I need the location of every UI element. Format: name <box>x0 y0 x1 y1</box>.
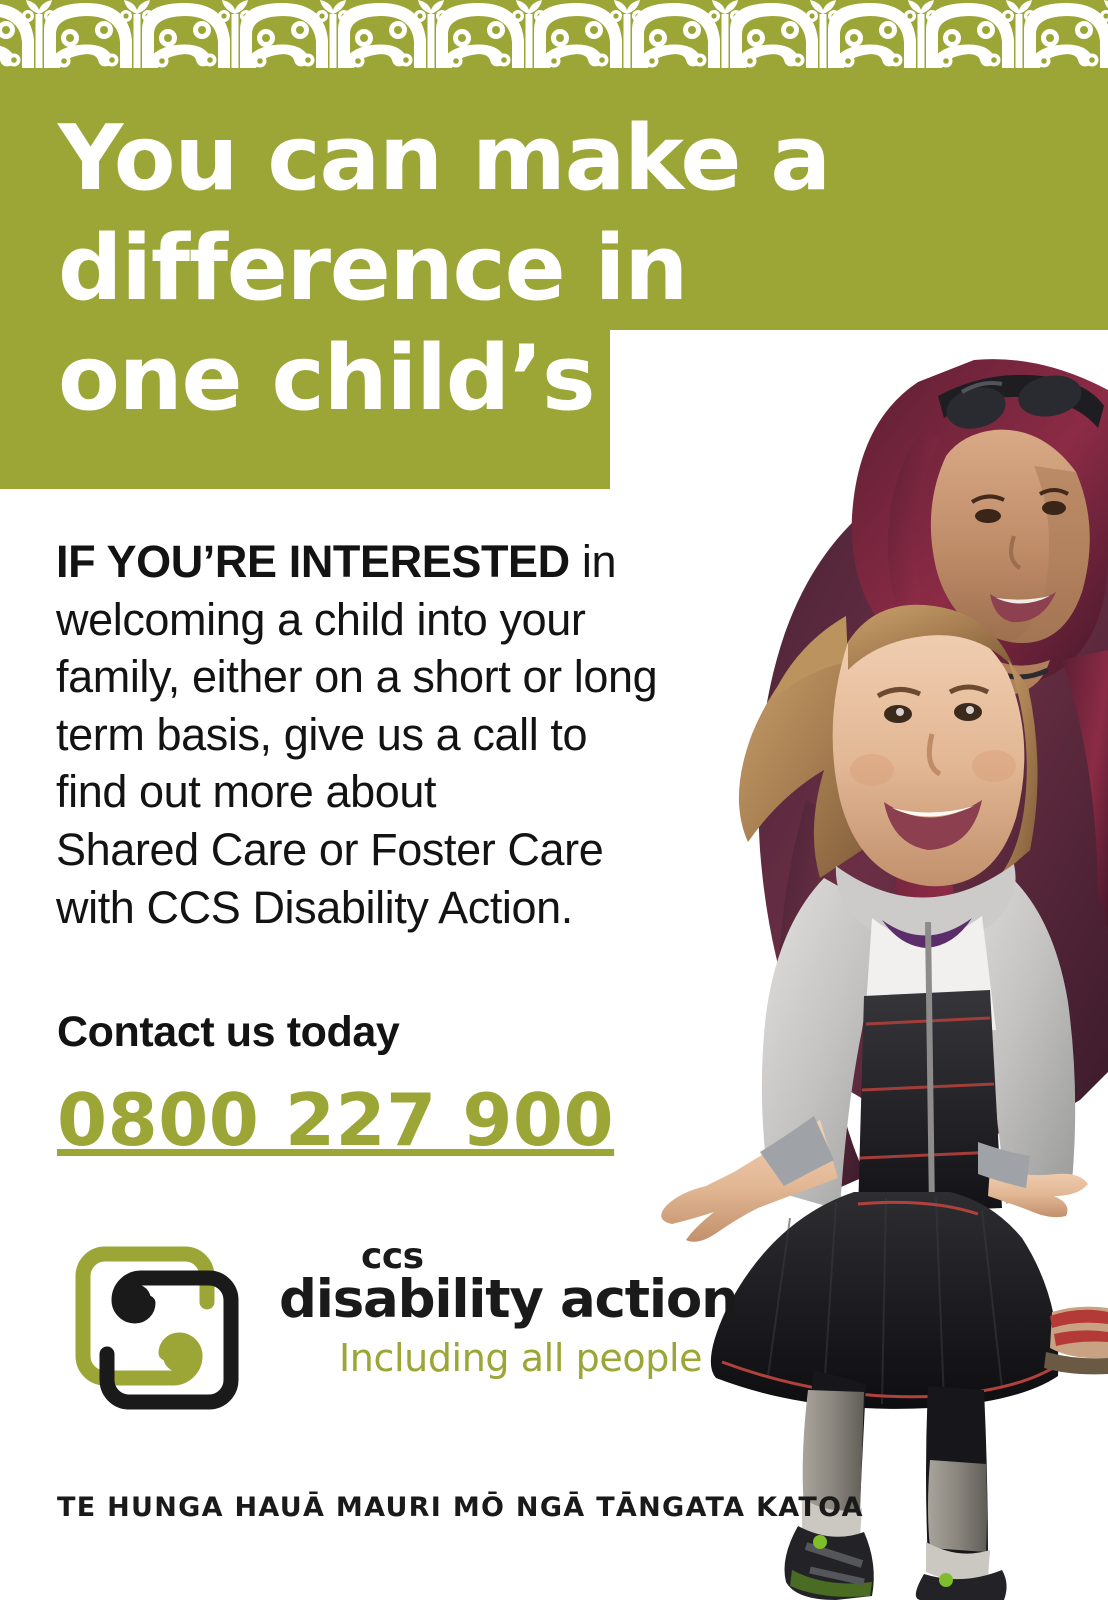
kowhaiwhai-border-icon <box>0 0 1108 68</box>
body-line-4: term basis, give us a call to <box>56 706 746 764</box>
logo-name-text: disability action <box>279 1273 679 1327</box>
maori-strapline: TE HUNGA HAUĀ MAURI MŌ NGĀ TĀNGATA KATOA <box>57 1492 864 1523</box>
headline-line-1: You can make a <box>58 104 878 214</box>
phone-number[interactable]: 0800 227 900 <box>57 1078 614 1162</box>
body-copy: IF YOU’RE INTERESTED in welcoming a chil… <box>56 533 746 936</box>
contact-us-label: Contact us today <box>57 1008 399 1057</box>
logo-wordmark: ccs disability action Including all peop… <box>279 1240 679 1380</box>
body-line-1-rest: in <box>570 536 616 587</box>
body-lede: IF YOU’RE INTERESTED <box>56 536 570 587</box>
body-line-6: Shared Care or Foster Care <box>56 821 746 879</box>
body-line-5: find out more about <box>56 763 746 821</box>
body-line-1: IF YOU’RE INTERESTED in <box>56 533 746 591</box>
body-line-7: with CCS Disability Action. <box>56 879 746 937</box>
woman-and-child-photo <box>610 330 1108 1600</box>
body-line-3: family, either on a short or long <box>56 648 746 706</box>
body-line-2: welcoming a child into your <box>56 591 746 649</box>
koru-double-spiral-logo-icon <box>57 1228 257 1428</box>
headline-line-2: difference in <box>58 214 878 324</box>
logo-tagline-text: Including all people <box>339 1336 679 1380</box>
ccs-disability-action-logo: ccs disability action Including all peop… <box>57 1228 677 1438</box>
poster: You can make a difference in one child’s… <box>0 0 1108 1600</box>
